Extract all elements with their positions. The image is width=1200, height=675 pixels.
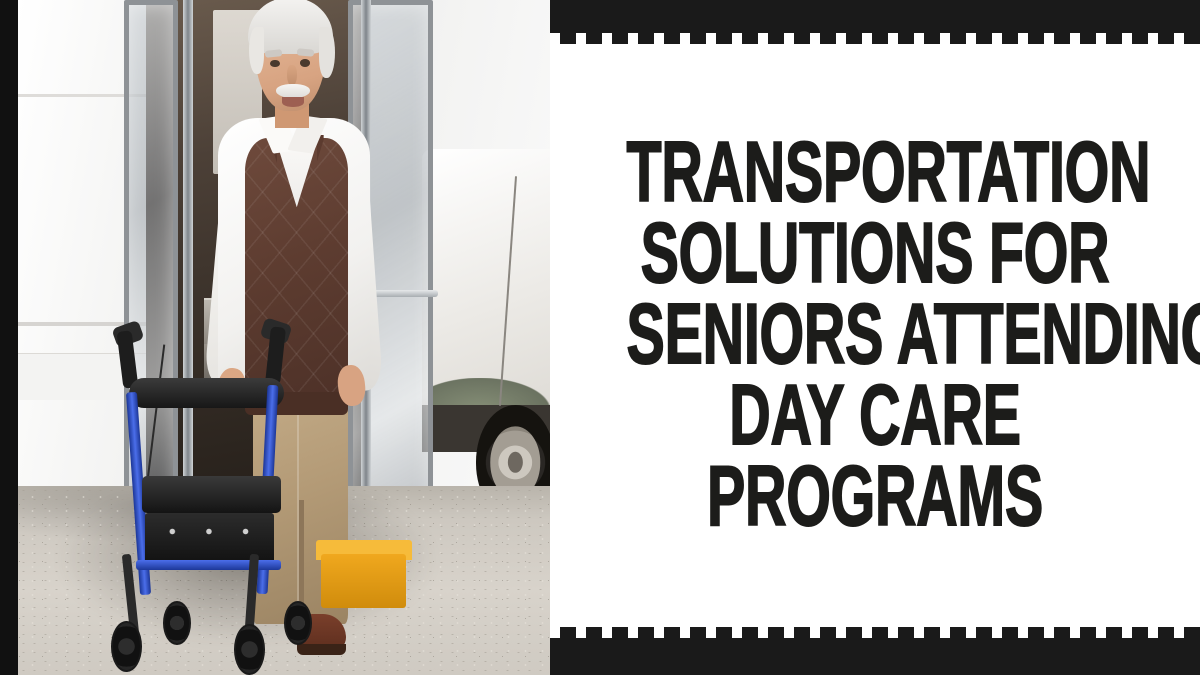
senior-transport-photo <box>18 0 550 675</box>
hair-side-left <box>249 27 264 74</box>
headline-line-1: TRANSPORTATION <box>627 131 1124 215</box>
white-mustache <box>276 84 310 98</box>
photo-panel <box>0 0 550 675</box>
headline-line-5: PROGRAMS <box>627 454 1124 538</box>
walker-seat <box>142 476 281 513</box>
blue-rollator-walker <box>92 338 401 675</box>
smiling-mouth <box>282 97 304 106</box>
eye-right <box>300 59 310 66</box>
walker-wheel-front-right <box>234 624 265 675</box>
bottom-dashed-border <box>550 627 1200 675</box>
walker-pouch-rivets <box>154 523 265 540</box>
walker-wheel-rear-left <box>163 601 191 645</box>
text-panel: TRANSPORTATION SOLUTIONS FOR SENIORS ATT… <box>550 0 1200 675</box>
thumbnail-canvas: TRANSPORTATION SOLUTIONS FOR SENIORS ATT… <box>0 0 1200 675</box>
headline-line-2: SOLUTIONS FOR <box>627 212 1124 296</box>
headline-line-3: SENIORS ATTENDING <box>627 292 1124 376</box>
walker-brake-cable <box>145 345 165 496</box>
walker-wheel-front-left <box>111 621 142 672</box>
top-border-notches <box>550 33 1200 44</box>
walker-crossbar <box>136 560 281 570</box>
headline-block: TRANSPORTATION SOLUTIONS FOR SENIORS ATT… <box>550 44 1200 627</box>
eyebrow-right <box>296 48 314 56</box>
hair-side-right <box>319 27 335 78</box>
bottom-border-notches <box>550 627 1200 638</box>
headline-line-4: DAY CARE <box>627 373 1124 457</box>
walker-wheel-rear-right <box>284 601 312 645</box>
top-dashed-border <box>550 0 1200 44</box>
walker-backrest <box>129 378 283 408</box>
